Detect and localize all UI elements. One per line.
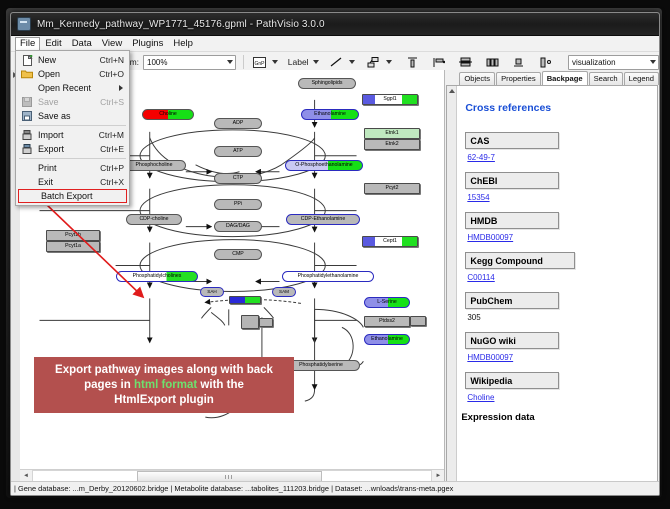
xref-value-chebi: 15354	[467, 193, 657, 202]
node-ppi[interactable]: PPi	[214, 199, 262, 210]
distribute-tool-icon[interactable]	[484, 54, 501, 71]
node-sphingolipids[interactable]: Sphingolipids	[298, 78, 356, 89]
node-adp[interactable]: ADP	[214, 118, 262, 129]
node-ethanolamine-top[interactable]: Ethanolamine	[301, 109, 359, 120]
xref-link-cas[interactable]: 62-49-7	[467, 153, 495, 162]
file-menu-label: Import	[38, 130, 99, 140]
file-menu-label: Exit	[38, 177, 100, 187]
tab-properties[interactable]: Properties	[496, 72, 541, 85]
file-menu-accel: Ctrl+N	[100, 55, 129, 65]
xref-value-hmdb: HMDB00097	[467, 233, 657, 242]
file-menu-label: Export	[38, 144, 100, 154]
file-menu-item-exit[interactable]: Exit Ctrl+X	[16, 175, 129, 189]
datanode-tool-icon[interactable]: GnP	[251, 54, 268, 71]
xref-name-hmdb: HMDB	[465, 212, 559, 229]
save-as-icon	[16, 111, 38, 121]
visualization-combo[interactable]: visualization	[568, 55, 659, 70]
align-bottom-tool-icon[interactable]	[511, 54, 528, 71]
status-bar: | Gene database: ...m_Derby_20120602.bri…	[11, 481, 659, 495]
zoom-combo[interactable]: 100%	[143, 55, 236, 70]
file-menu-item-open-recent[interactable]: Open Recent	[16, 81, 129, 95]
node-cdp-choline[interactable]: CDP-choline	[126, 214, 182, 225]
pathvisio-window: Mm_Kennedy_pathway_WP1771_45176.gpml - P…	[10, 12, 660, 496]
tab-backpage[interactable]: Backpage	[542, 71, 588, 85]
menu-help[interactable]: Help	[168, 37, 198, 51]
interaction-dropdown-icon[interactable]	[386, 60, 392, 64]
menu-separator	[19, 125, 126, 126]
connector-box-2[interactable]	[259, 318, 273, 327]
tab-legend[interactable]: Legend	[624, 72, 659, 85]
line-tool-icon[interactable]	[329, 54, 346, 71]
gene-sgpl1[interactable]: Sgpl1	[362, 94, 418, 105]
callout-line-2-suffix: with the	[197, 379, 244, 391]
node-o-phosphoethanolamine[interactable]: O-Phosphoethanolamine	[285, 160, 363, 171]
label-tool-label[interactable]: Label	[288, 57, 309, 67]
node-cmp[interactable]: CMP	[214, 249, 262, 260]
scroll-left-icon[interactable]: ◄	[20, 471, 32, 482]
xref-value-cas: 62-49-7	[467, 153, 657, 162]
node-choline-top[interactable]: Choline	[142, 109, 194, 120]
submenu-arrow-icon	[119, 85, 123, 91]
gene-chip-pemt[interactable]	[229, 296, 261, 304]
interaction-tool-icon[interactable]	[365, 54, 382, 71]
file-menu-item-export[interactable]: Export Ctrl+E	[16, 142, 129, 156]
xref-name-nugo: NuGO wiki	[465, 332, 559, 349]
screenshot-root: Mm_Kennedy_pathway_WP1771_45176.gpml - P…	[0, 0, 670, 509]
node-phosphocholine[interactable]: Phosphocholine	[122, 160, 186, 171]
chevron-down-icon	[227, 60, 233, 64]
common-width-tool-icon[interactable]	[537, 54, 554, 71]
menu-data[interactable]: Data	[67, 37, 97, 51]
tab-objects[interactable]: Objects	[459, 72, 495, 85]
xref-link-hmdb[interactable]: HMDB00097	[467, 233, 513, 242]
file-menu-accel: Ctrl+P	[100, 163, 129, 173]
xref-name-chebi: ChEBI	[465, 172, 559, 189]
backpage-content[interactable]: Cross references CAS 62-49-7 ChEBI 15354…	[446, 85, 658, 494]
file-menu-accel: Ctrl+S	[100, 97, 129, 107]
menu-file[interactable]: File	[15, 37, 40, 51]
file-menu-item-save-as[interactable]: Save as	[16, 109, 129, 123]
xref-value-pubchem: 305	[467, 313, 657, 322]
chevron-down-icon	[650, 60, 656, 64]
node-ctp[interactable]: CTP	[214, 173, 262, 184]
menu-edit[interactable]: Edit	[40, 37, 66, 51]
gene-pcyt1a[interactable]: Pcyt1a	[46, 241, 100, 252]
side-panel: Objects Properties Backpage Search Legen…	[445, 70, 659, 495]
node-dag[interactable]: DAG/DAG	[214, 221, 262, 232]
xref-link-nugo[interactable]: HMDB00097	[467, 353, 513, 362]
title-bar: Mm_Kennedy_pathway_WP1771_45176.gpml - P…	[11, 13, 659, 36]
gene-pcyt2[interactable]: Pcyt2	[364, 183, 420, 194]
status-text: | Gene database: ...m_Derby_20120602.bri…	[14, 484, 453, 493]
menu-separator	[19, 158, 126, 159]
callout-line-2-prefix: pages in	[84, 379, 134, 391]
save-icon	[16, 97, 38, 107]
file-menu-accel: Ctrl+E	[100, 144, 129, 154]
node-ethanolamine-right[interactable]: Ethanolamine	[364, 334, 410, 345]
new-file-icon	[16, 55, 38, 66]
gene-pcyt1b[interactable]: Pcyt1b	[46, 230, 100, 241]
window-title: Mm_Kennedy_pathway_WP1771_45176.gpml - P…	[37, 19, 325, 30]
node-sam[interactable]: SAM	[272, 287, 296, 297]
file-menu-accel: Ctrl+X	[100, 177, 129, 187]
node-cdp-ethanolamine[interactable]: CDP-Ethanolamine	[286, 214, 360, 225]
gene-ptdss2[interactable]: Ptdss2	[364, 316, 410, 327]
gene-etnk2[interactable]: Etnk2	[364, 139, 420, 150]
file-menu-item-print[interactable]: Print Ctrl+P	[16, 161, 129, 175]
xref-link-chebi[interactable]: 15354	[467, 193, 489, 202]
node-l-serine[interactable]: L-Serine	[364, 297, 410, 308]
node-phosphatidylcholines[interactable]: Phosphatidylcholines	[116, 271, 198, 282]
xref-value-wikipedia: Choline	[467, 393, 657, 402]
cross-references-heading: Cross references	[465, 102, 657, 114]
pathvisio-icon	[17, 17, 31, 31]
stack-tool-icon[interactable]	[457, 54, 474, 71]
visualization-value: visualization	[572, 58, 616, 67]
label-dropdown-icon[interactable]	[313, 60, 319, 64]
file-menu-item-batch-export[interactable]: Batch Export	[18, 189, 127, 203]
file-menu-popup[interactable]: New Ctrl+N Open Ctrl+O Open Recent Save	[15, 50, 130, 206]
backpage-scroll-rail[interactable]	[447, 86, 457, 493]
file-menu-accel: Ctrl+O	[99, 69, 129, 79]
file-menu-label: Batch Export	[41, 191, 126, 201]
xref-value-kegg: C00114	[467, 273, 657, 282]
svg-text:GnP: GnP	[254, 61, 265, 67]
file-menu-item-open[interactable]: Open Ctrl+O	[16, 67, 129, 81]
callout-line-2: pages in html format with the	[84, 378, 244, 393]
callout-line-3: HtmlExport plugin	[114, 393, 214, 408]
xref-link-wikipedia[interactable]: Choline	[467, 393, 494, 402]
node-sah[interactable]: SAH	[200, 287, 224, 297]
expression-data-heading: Expression data	[461, 412, 657, 423]
callout-line-1: Export pathway images along with back	[55, 363, 273, 378]
callout-highlight: html format	[134, 379, 197, 391]
line-dropdown-icon[interactable]	[349, 60, 355, 64]
xref-value-nugo: HMDB00097	[467, 353, 657, 362]
xref-name-pubchem: PubChem	[465, 292, 559, 309]
align-left-tool-icon[interactable]	[431, 54, 448, 71]
annotation-callout: Export pathway images along with back pa…	[34, 357, 294, 413]
file-menu-label: Open Recent	[38, 83, 119, 93]
file-menu-label: Open	[38, 69, 99, 79]
menu-plugins[interactable]: Plugins	[127, 37, 168, 51]
gene-etnk1[interactable]: Etnk1	[364, 128, 420, 139]
node-atp[interactable]: ATP	[214, 146, 262, 157]
xref-link-kegg[interactable]: C00114	[467, 273, 494, 282]
file-menu-item-save[interactable]: Save Ctrl+S	[16, 95, 129, 109]
menu-view[interactable]: View	[97, 37, 127, 51]
zoom-value: 100%	[147, 58, 167, 67]
open-folder-icon	[16, 69, 38, 79]
scroll-right-icon[interactable]: ►	[432, 471, 444, 482]
xref-name-wikipedia: Wikipedia	[465, 372, 559, 389]
gene-cept1[interactable]: Cept1	[362, 236, 418, 247]
datanode-dropdown-icon[interactable]	[272, 60, 278, 64]
file-menu-label: Save	[38, 97, 100, 107]
tab-search[interactable]: Search	[589, 72, 623, 85]
import-icon	[16, 130, 38, 140]
align-top-tool-icon[interactable]	[404, 54, 421, 71]
file-menu-label: Save as	[38, 111, 124, 121]
file-menu-item-new[interactable]: New Ctrl+N	[16, 53, 129, 67]
export-icon	[16, 144, 38, 154]
side-panel-tabs: Objects Properties Backpage Search Legen…	[445, 70, 659, 85]
file-menu-label: Print	[38, 163, 100, 173]
node-phosphatidylethanolamine[interactable]: Phosphatidylethanolamine	[282, 271, 374, 282]
connector-box-3[interactable]	[410, 316, 426, 326]
file-menu-label: New	[38, 55, 100, 65]
file-menu-item-import[interactable]: Import Ctrl+M	[16, 128, 129, 142]
connector-box-1[interactable]	[241, 315, 259, 329]
toolbar-separator	[243, 55, 244, 69]
xref-name-kegg: Kegg Compound	[465, 252, 575, 269]
file-menu-accel: Ctrl+M	[99, 130, 129, 140]
xref-name-cas: CAS	[465, 132, 559, 149]
